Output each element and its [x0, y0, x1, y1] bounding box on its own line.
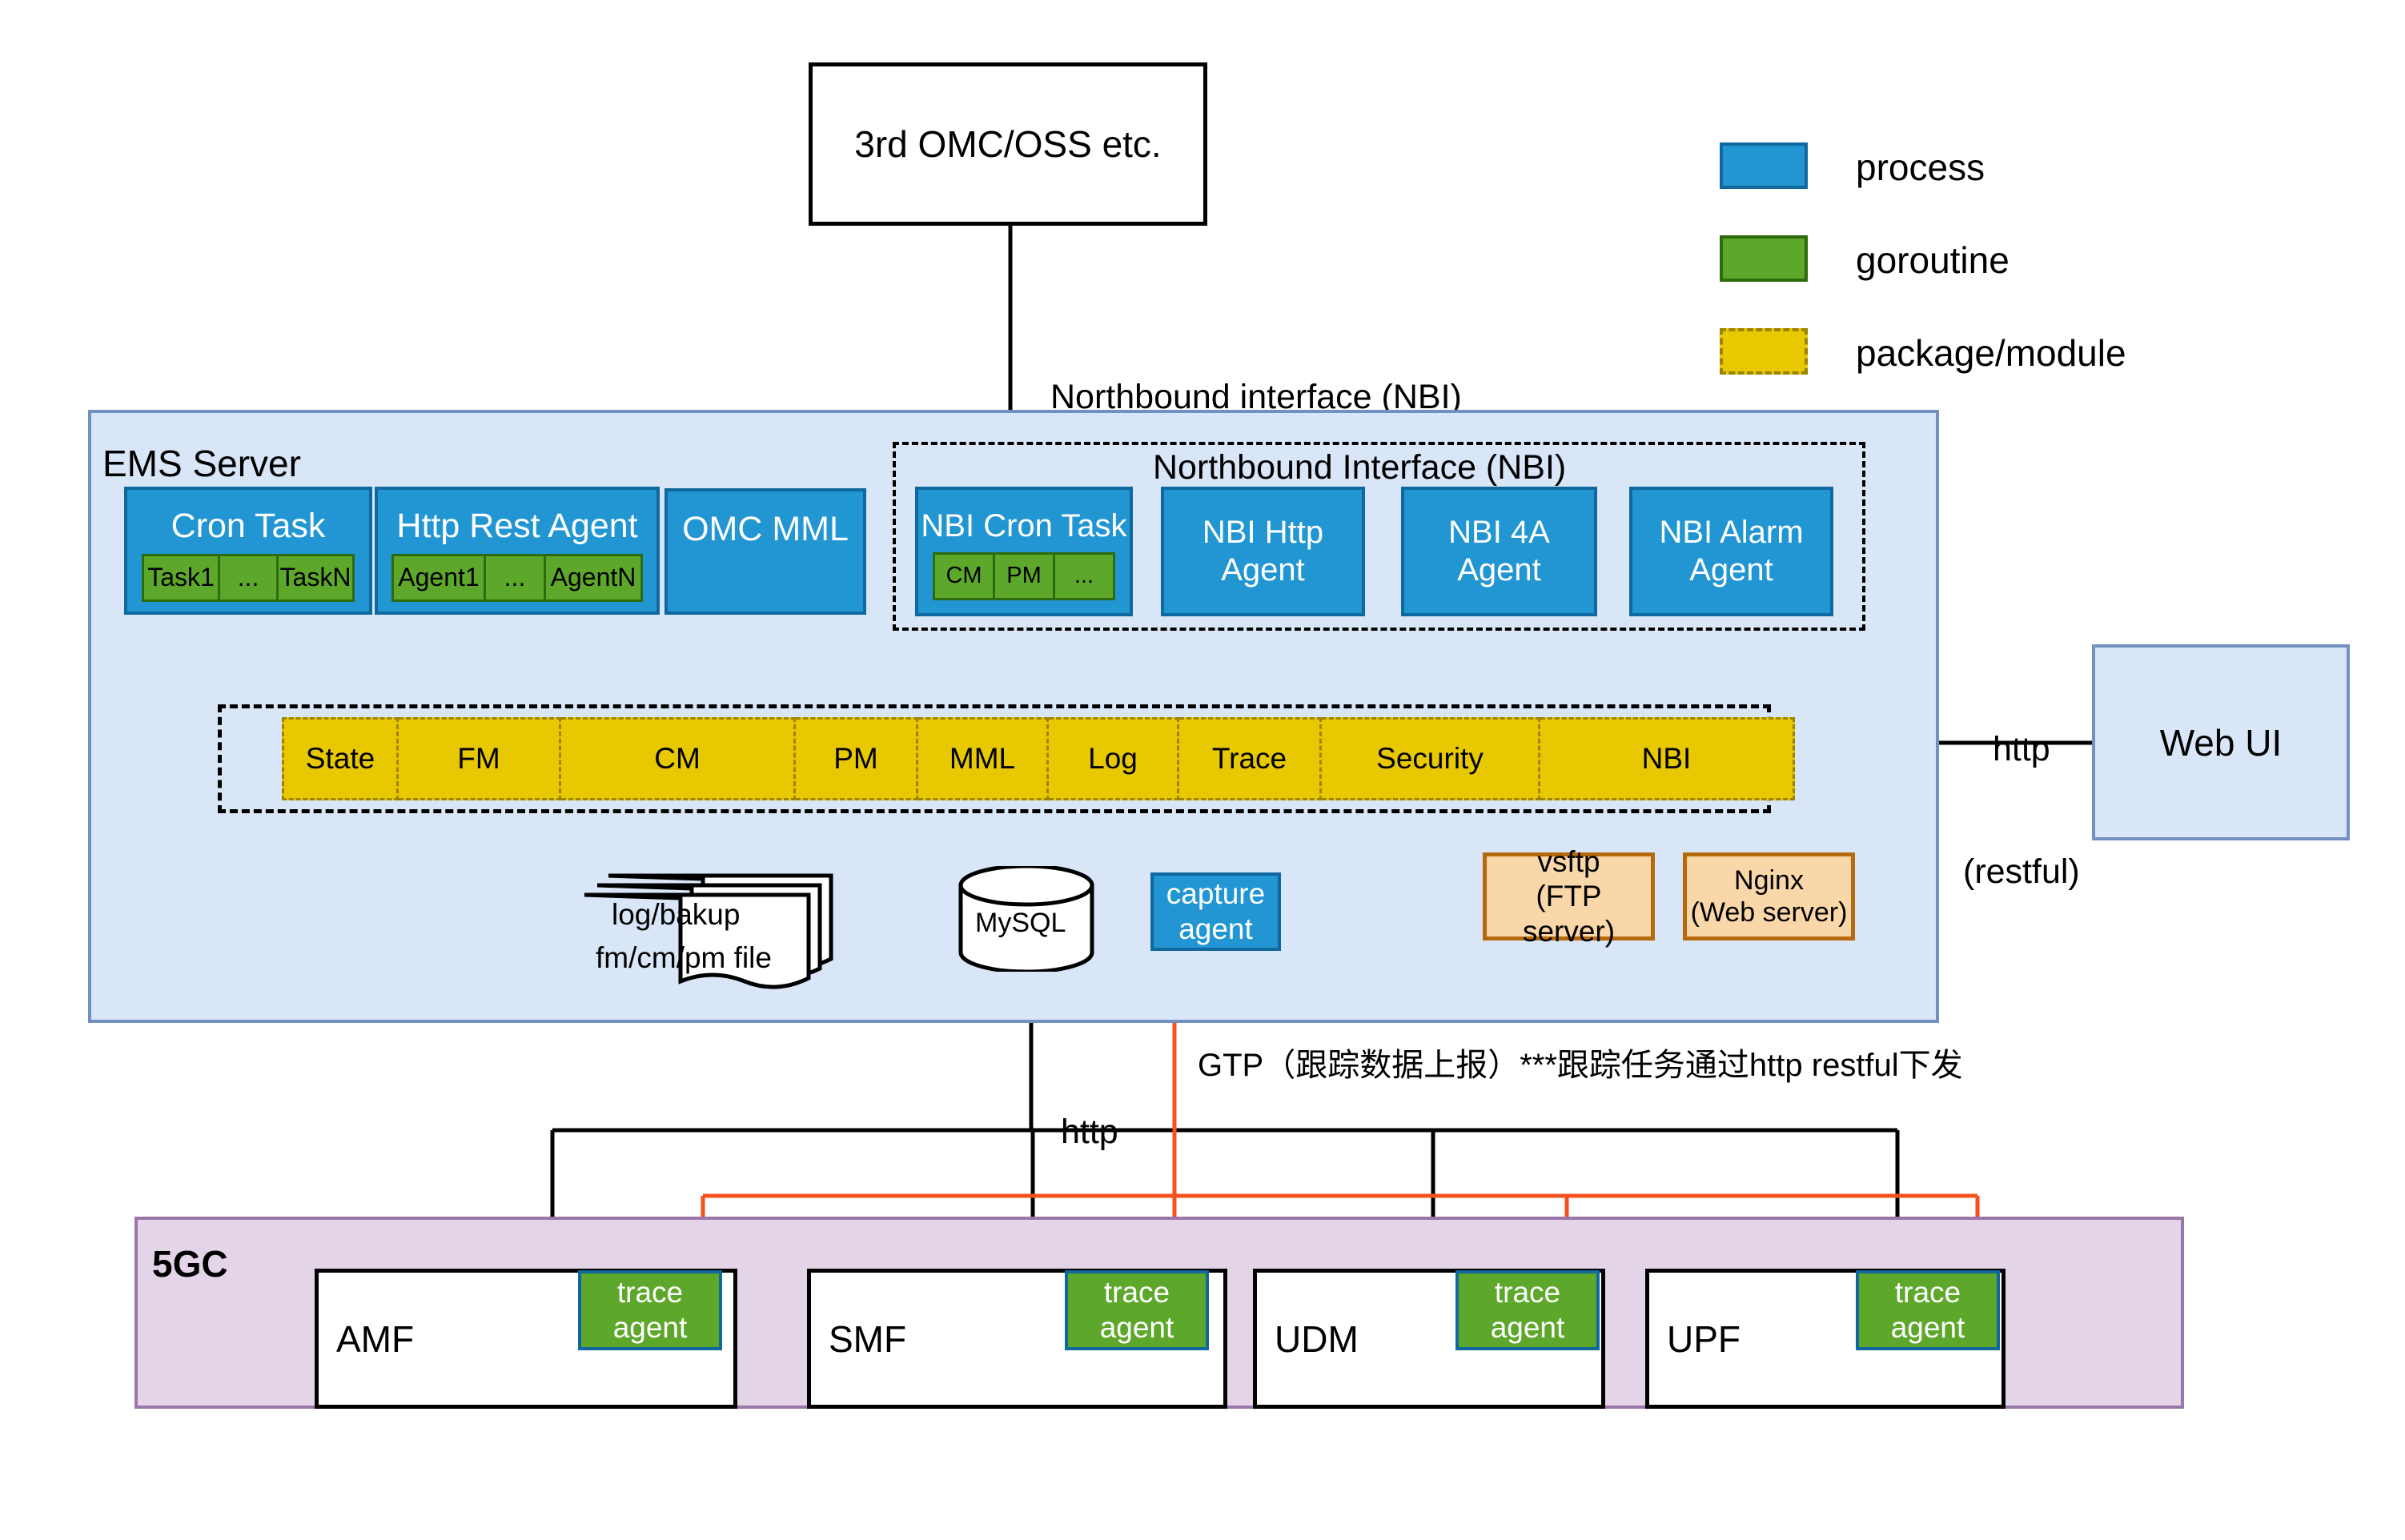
server-vsftp-line2: (FTP server) — [1487, 879, 1651, 948]
gtp-note-label: GTP（跟踪数据上报）***跟踪任务通过http restful下发 — [1198, 1039, 1963, 1085]
capture-agent-line2: agent — [1178, 912, 1253, 947]
trace-agent-udm[interactable]: trace agent — [1455, 1270, 1600, 1350]
nbi-group-title: Northbound Interface (NBI) — [1153, 448, 1566, 487]
web-ui-link-line2: (restful) — [1963, 852, 2080, 892]
trace-agent-upf-line1: trace — [1895, 1275, 1961, 1310]
nf-smf-label: SMF — [829, 1317, 906, 1361]
trace-agent-udm-line1: trace — [1495, 1275, 1560, 1310]
legend-swatch-goroutine — [1720, 235, 1808, 282]
process-nbi-cron-task[interactable]: NBI Cron Task CM PM ... — [915, 487, 1133, 616]
nf-amf-label: AMF — [336, 1317, 414, 1361]
server-nginx[interactable]: Nginx (Web server) — [1683, 852, 1855, 940]
mysql-label: MySQL — [975, 908, 1066, 939]
ems-server-title: EMS Server — [102, 442, 301, 485]
southbound-http-line1: http — [1031, 1112, 1148, 1153]
trace-agent-smf-line2: agent — [1100, 1310, 1174, 1345]
process-cron-task[interactable]: Cron Task Task1 ... TaskN — [124, 487, 372, 615]
server-nginx-line1: Nginx — [1734, 864, 1804, 896]
goroutine-taskn[interactable]: TaskN — [279, 554, 355, 602]
process-nbi-http-agent-label: NBI Http Agent — [1164, 514, 1362, 589]
file-store-line2: fm/cm/pm file — [596, 941, 772, 975]
module-mml[interactable]: MML — [918, 717, 1049, 800]
nf-udm-label: UDM — [1275, 1317, 1359, 1361]
web-ui-box[interactable]: Web UI — [2092, 644, 2350, 840]
goroutine-nbi-pm[interactable]: PM — [995, 552, 1055, 600]
file-store-line1: log/bakup — [612, 898, 740, 932]
trace-agent-udm-line2: agent — [1491, 1310, 1565, 1345]
trace-agent-upf[interactable]: trace agent — [1856, 1270, 2000, 1350]
file-store-group[interactable]: log/bakup fm/cm/pm file — [576, 864, 849, 993]
goroutine-nbi-cm[interactable]: CM — [933, 552, 995, 600]
trace-agent-smf-line1: trace — [1104, 1275, 1170, 1310]
external-omc-oss-label: 3rd OMC/OSS etc. — [854, 122, 1161, 166]
server-vsftp-line1: vsftp — [1537, 844, 1600, 880]
legend-label-goroutine: goroutine — [1856, 239, 2010, 282]
module-nbi[interactable]: NBI — [1540, 717, 1795, 800]
legend-label-module: package/module — [1856, 331, 2126, 375]
web-ui-label: Web UI — [2160, 721, 2283, 764]
process-nbi-4a-agent-label: NBI 4A Agent — [1404, 514, 1594, 589]
diagram-canvas: 3rd OMC/OSS etc. Northbound interface (N… — [0, 0, 2405, 1540]
goroutine-nbi-ellipsis: ... — [1055, 552, 1115, 600]
goroutine-agent-ellipsis: ... — [486, 554, 546, 602]
mysql-database[interactable]: MySQL — [954, 866, 1106, 972]
process-nbi-alarm-agent[interactable]: NBI Alarm Agent — [1629, 487, 1833, 616]
process-omc-mml-label: OMC MML — [682, 510, 849, 549]
goroutine-task1[interactable]: Task1 — [142, 554, 220, 602]
goroutine-task-ellipsis: ... — [220, 554, 279, 602]
module-bar: State FM CM PM MML Log Trace Security NB… — [282, 717, 1795, 800]
module-trace[interactable]: Trace — [1179, 717, 1322, 800]
capture-agent-line1: capture — [1166, 876, 1265, 912]
trace-agent-smf[interactable]: trace agent — [1065, 1270, 1209, 1350]
process-http-rest-agent[interactable]: Http Rest Agent Agent1 ... AgentN — [375, 487, 660, 615]
module-cm[interactable]: CM — [561, 717, 796, 800]
process-nbi-http-agent[interactable]: NBI Http Agent — [1161, 487, 1365, 616]
web-ui-link-label: http (restful) — [1963, 648, 2080, 973]
core-network-title: 5GC — [152, 1242, 228, 1285]
module-pm[interactable]: PM — [796, 717, 918, 800]
module-security[interactable]: Security — [1322, 717, 1540, 800]
legend-label-process: process — [1856, 146, 1985, 189]
external-omc-oss-box[interactable]: 3rd OMC/OSS etc. — [809, 62, 1207, 226]
process-omc-mml[interactable]: OMC MML — [664, 488, 866, 615]
goroutine-agentn[interactable]: AgentN — [546, 554, 643, 602]
module-state[interactable]: State — [282, 717, 399, 800]
trace-agent-upf-line2: agent — [1891, 1310, 1965, 1345]
trace-agent-amf[interactable]: trace agent — [578, 1270, 722, 1350]
process-http-rest-agent-label: Http Rest Agent — [396, 507, 637, 546]
process-nbi-alarm-agent-label: NBI Alarm Agent — [1632, 514, 1830, 589]
legend-swatch-process — [1720, 142, 1808, 189]
process-nbi-cron-task-label: NBI Cron Task — [921, 508, 1126, 544]
module-fm[interactable]: FM — [399, 717, 561, 800]
process-capture-agent[interactable]: capture agent — [1150, 872, 1281, 951]
server-nginx-line2: (Web server) — [1691, 896, 1848, 928]
trace-agent-amf-line2: agent — [613, 1310, 688, 1345]
module-log[interactable]: Log — [1049, 717, 1179, 800]
process-nbi-4a-agent[interactable]: NBI 4A Agent — [1401, 487, 1597, 616]
server-vsftp[interactable]: vsftp (FTP server) — [1483, 852, 1655, 940]
legend-swatch-module — [1720, 328, 1808, 375]
process-cron-task-label: Cron Task — [171, 507, 326, 546]
goroutine-agent1[interactable]: Agent1 — [391, 554, 486, 602]
trace-agent-amf-line1: trace — [617, 1275, 683, 1310]
nf-upf-label: UPF — [1667, 1317, 1741, 1361]
web-ui-link-line1: http — [1963, 729, 2080, 770]
